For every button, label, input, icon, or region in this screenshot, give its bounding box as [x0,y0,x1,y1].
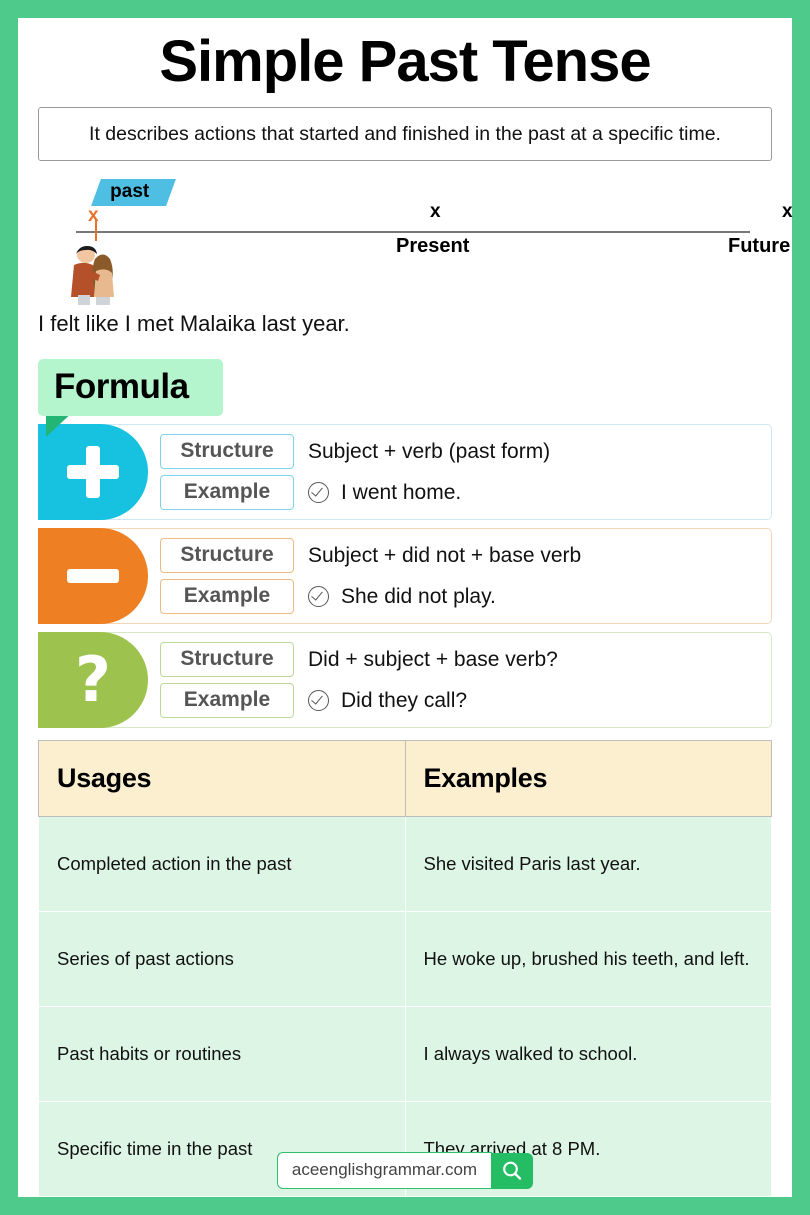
plus-icon [67,446,119,498]
search-button[interactable] [491,1153,533,1189]
structure-value: Subject + verb (past form) [308,440,550,464]
past-flag: past [91,179,176,206]
timeline-diagram: past x x x Present Future [38,179,772,309]
column-header-examples: Examples [405,741,772,817]
example-label: Example [160,475,294,510]
definition-box: It describes actions that started and fi… [38,107,772,161]
example-value-wrap: She did not play. [308,585,496,609]
affirmative-badge [38,424,148,520]
structure-label: Structure [160,434,294,469]
example-row: Example I went home. [148,475,771,510]
example-value: I went home. [341,481,461,505]
example-sentence: I felt like I met Malaika last year. [38,311,772,337]
couple-embracing-icon [66,243,126,305]
example-value: Did they call? [341,689,467,713]
example-cell: She visited Paris last year. [405,817,772,912]
check-circle-icon [308,482,329,503]
formula-card-negative: Structure Subject + did not + base verb … [38,528,772,624]
past-tick [95,219,97,241]
example-value-wrap: I went home. [308,481,461,505]
table-row: Series of past actions He woke up, brush… [39,912,772,1007]
poster-frame: Simple Past Tense It describes actions t… [18,18,792,1197]
present-marker: x [430,201,441,223]
affirmative-rows: Structure Subject + verb (past form) Exa… [148,425,771,519]
structure-value: Subject + did not + base verb [308,544,581,568]
future-label: Future [728,235,790,258]
page-title: Simple Past Tense [18,18,792,103]
table-row: Completed action in the past She visited… [39,817,772,912]
example-label: Example [160,579,294,614]
example-value-wrap: Did they call? [308,689,467,713]
timeline-axis [76,231,750,233]
formula-card-affirmative: Structure Subject + verb (past form) Exa… [38,424,772,520]
table-header-row: Usages Examples [39,741,772,817]
past-flag-label: past [110,181,149,203]
usage-cell: Past habits or routines [39,1007,406,1102]
interrogative-badge: ? [38,632,148,728]
usage-cell: Completed action in the past [39,817,406,912]
column-header-usages: Usages [39,741,406,817]
example-cell: He woke up, brushed his teeth, and left. [405,912,772,1007]
question-mark-icon: ? [75,649,111,711]
footer: aceenglishgrammar.com [18,1152,792,1189]
negative-badge [38,528,148,624]
structure-label: Structure [160,538,294,573]
website-url[interactable]: aceenglishgrammar.com [277,1152,492,1189]
table-row: Past habits or routines I always walked … [39,1007,772,1102]
formula-card-interrogative: ? Structure Did + subject + base verb? E… [38,632,772,728]
usage-cell: Series of past actions [39,912,406,1007]
structure-label: Structure [160,642,294,677]
check-circle-icon [308,586,329,607]
negative-rows: Structure Subject + did not + base verb … [148,529,771,623]
example-row: Example She did not play. [148,579,771,614]
structure-row: Structure Subject + did not + base verb [148,538,771,573]
structure-row: Structure Did + subject + base verb? [148,642,771,677]
formula-heading: Formula [38,359,223,416]
future-marker: x [782,201,793,223]
search-icon [501,1160,523,1182]
interrogative-rows: Structure Did + subject + base verb? Exa… [148,633,771,727]
minus-icon [67,569,119,583]
usages-examples-table: Usages Examples Completed action in the … [38,740,772,1197]
example-value: She did not play. [341,585,496,609]
example-cell: I always walked to school. [405,1007,772,1102]
check-circle-icon [308,690,329,711]
structure-row: Structure Subject + verb (past form) [148,434,771,469]
example-label: Example [160,683,294,718]
example-row: Example Did they call? [148,683,771,718]
formula-section: Formula Structure Subject + verb (past f… [38,359,772,728]
present-label: Present [396,235,469,258]
structure-value: Did + subject + base verb? [308,648,558,672]
